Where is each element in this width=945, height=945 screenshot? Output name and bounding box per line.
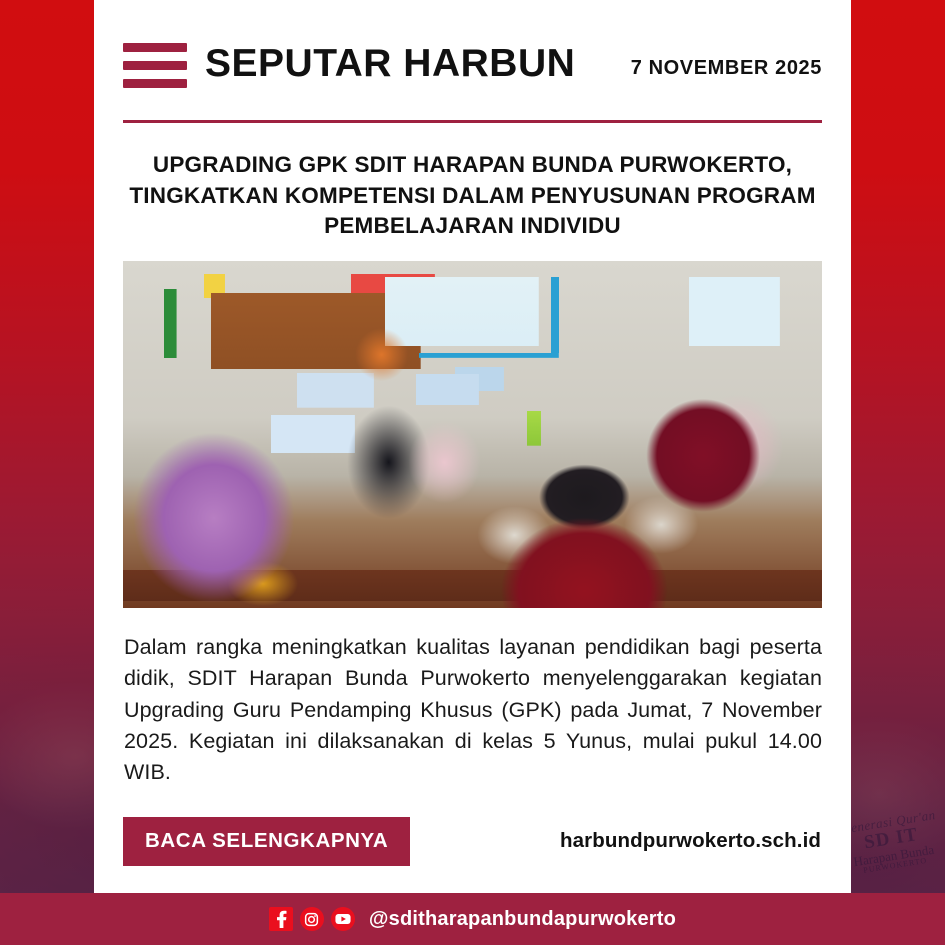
- publish-date: 7 NOVEMBER 2025: [631, 47, 822, 80]
- footer-bar: @sditharapanbundapurwokerto: [0, 893, 945, 945]
- article-photo-image: [123, 261, 822, 608]
- article-photo: [123, 261, 822, 608]
- social-handle: @sditharapanbundapurwokerto: [369, 908, 676, 931]
- poster-canvas: Generasi Qur'an SD IT Harapan Bunda PURW…: [0, 0, 945, 945]
- social-links: [269, 907, 355, 931]
- instagram-icon[interactable]: [300, 907, 324, 931]
- brand-title: SEPUTAR HARBUN: [205, 44, 575, 83]
- article-headline: UPGRADING GPK SDIT HARAPAN BUNDA PURWOKE…: [129, 150, 816, 242]
- article-body: Dalam rangka meningkatkan kualitas layan…: [124, 632, 822, 789]
- header-divider: [123, 120, 822, 123]
- content-card: SEPUTAR HARBUN 7 NOVEMBER 2025 UPGRADING…: [94, 0, 851, 893]
- poster-header: SEPUTAR HARBUN 7 NOVEMBER 2025: [123, 0, 822, 112]
- cta-row: BACA SELENGKAPNYA harbundpurwokerto.sch.…: [123, 817, 822, 867]
- website-url[interactable]: harbundpurwokerto.sch.id: [560, 829, 821, 853]
- facebook-icon[interactable]: [269, 907, 293, 931]
- hamburger-bar: [123, 79, 187, 88]
- read-more-button[interactable]: BACA SELENGKAPNYA: [123, 817, 410, 867]
- youtube-icon[interactable]: [331, 907, 355, 931]
- hamburger-bar: [123, 43, 187, 52]
- hamburger-icon: [123, 43, 187, 88]
- hamburger-bar: [123, 61, 187, 70]
